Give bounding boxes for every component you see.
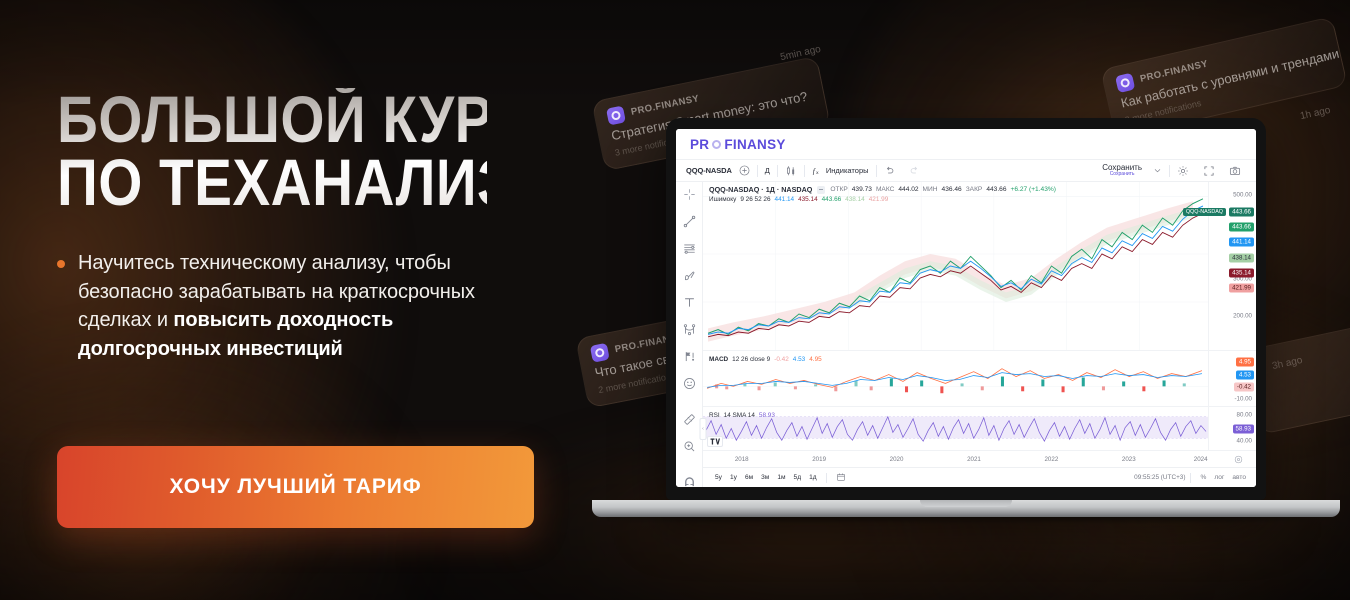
- date-range-button[interactable]: [832, 472, 850, 484]
- target-icon: [1234, 455, 1243, 464]
- profinansy-logo[interactable]: PR FINANSY: [690, 137, 786, 152]
- macd-axis[interactable]: 4.95 4.53 -0.42 -10.00: [1208, 351, 1256, 406]
- save-dropdown-button[interactable]: [1146, 160, 1169, 181]
- range-button-1y[interactable]: 1у: [726, 474, 741, 481]
- chevron-down-icon: [1153, 166, 1162, 175]
- range-button-1d[interactable]: 1д: [805, 474, 821, 481]
- price-pane[interactable]: QQQ-NASDAQ · 1Д · NASDAQ ОТКР439.73 МАКС…: [703, 182, 1256, 351]
- gear-icon: [1177, 165, 1189, 177]
- tradingview-logo-icon: [710, 438, 721, 445]
- save-sublabel: Сохранить: [1110, 172, 1135, 177]
- rsi-tick: 40.00: [1237, 437, 1252, 444]
- camera-icon: [1229, 165, 1241, 177]
- text-tool-icon[interactable]: [683, 296, 696, 314]
- promo-content: БОЛЬШОЙ КУРС ПО ТЕХАНАЛИЗУ Научитесь тех…: [57, 88, 557, 363]
- macd-tag-hist: -0.42: [1234, 383, 1254, 392]
- interval-button[interactable]: Д: [758, 160, 777, 181]
- cta-button[interactable]: ХОЧУ ЛУЧШИЙ ТАРИФ: [57, 446, 534, 528]
- range-button-5d[interactable]: 5д: [790, 474, 806, 481]
- app-brand-bar: PR FINANSY: [676, 129, 1256, 159]
- settings-button[interactable]: [1170, 160, 1196, 181]
- range-button-1m[interactable]: 1м: [773, 474, 789, 481]
- undo-button[interactable]: [877, 160, 902, 181]
- macd-tag-macd: 4.95: [1236, 358, 1254, 367]
- bullet-dot-icon: [57, 260, 65, 268]
- drawing-tools-sidebar: [676, 182, 703, 487]
- rsi-tag-value: 58.93: [1233, 424, 1254, 433]
- macd-line: [707, 369, 1202, 389]
- time-tick: 2024: [1194, 456, 1208, 463]
- price-tag-tenkan: 441.14: [1229, 238, 1254, 247]
- price-tag-senkou-a: 421.99: [1229, 283, 1254, 292]
- time-tick: 2022: [1044, 456, 1058, 463]
- macd-series-svg: [703, 351, 1208, 406]
- save-button[interactable]: Сохранить Сохранить: [1098, 164, 1146, 178]
- benefit-text: Научитесь техническому анализу, чтобы бе…: [78, 249, 527, 363]
- price-tick: 500.00: [1233, 192, 1252, 199]
- price-tick: 200.00: [1233, 313, 1252, 320]
- indicators-label: Индикаторы: [826, 166, 869, 175]
- headline-line-2: ПО ТЕХАНАЛИЗУ: [57, 151, 487, 214]
- undo-icon: [884, 165, 895, 176]
- promo-banner: PRO.FINANSY Стратегия Smart money: это ч…: [0, 0, 1350, 600]
- calendar-icon: [836, 472, 846, 482]
- percent-scale-button[interactable]: %: [1196, 474, 1210, 481]
- clock-label: 09:55:25 (UTC+3): [1134, 474, 1185, 481]
- add-symbol-button[interactable]: [732, 160, 757, 181]
- chart-type-button[interactable]: [778, 160, 804, 181]
- logo-text-pre: PR: [690, 137, 709, 152]
- chart-area: QQQ-NASDAQ · 1Д · NASDAQ ОТКР439.73 МАКС…: [703, 182, 1256, 487]
- symbol-button[interactable]: QQQ-NASDA: [686, 166, 732, 175]
- rsi-plot: [703, 407, 1208, 450]
- app-badge-icon: [1115, 73, 1135, 93]
- laptop-base: [592, 500, 1340, 517]
- time-tick: 2021: [967, 456, 981, 463]
- logo-text-post: FINANSY: [724, 137, 785, 152]
- price-axis[interactable]: 500.00 300.00 200.00 QQQ-NASDAQ 443.66 4…: [1208, 182, 1256, 350]
- price-tag-chikou: 443.66: [1229, 223, 1254, 232]
- trend-line-tool-icon[interactable]: [683, 215, 696, 233]
- laptop-screen: PR FINANSY QQQ-NASDA Д: [676, 129, 1256, 487]
- macd-plot: [703, 351, 1208, 406]
- time-tick: 2023: [1122, 456, 1136, 463]
- symbol-price-chip: QQQ-NASDAQ: [1183, 208, 1226, 216]
- rsi-pane[interactable]: RSI 14 SMA 14 58.93: [703, 407, 1256, 451]
- logo-ring-icon: [712, 140, 721, 149]
- plus-circle-icon: [739, 165, 750, 176]
- time-settings-button[interactable]: [1234, 455, 1243, 466]
- macd-signal-line: [707, 373, 1202, 388]
- emoji-tool-icon[interactable]: [683, 377, 696, 395]
- svg-text:x: x: [816, 171, 819, 176]
- footer-divider: [1190, 473, 1191, 483]
- price-tag-kijun: 435.14: [1229, 268, 1254, 277]
- price-series-svg: [703, 182, 1208, 350]
- magnet-tool-icon[interactable]: [683, 476, 696, 487]
- chart-toolbar: QQQ-NASDA Д: [676, 159, 1256, 182]
- benefit-bullet: Научитесь техническому анализу, чтобы бе…: [57, 249, 527, 363]
- laptop-base-shadow: [606, 517, 1326, 524]
- macd-tick: -10.00: [1234, 396, 1252, 403]
- fib-retracement-tool-icon[interactable]: [683, 242, 696, 260]
- pattern-tool-icon[interactable]: [683, 323, 696, 341]
- macd-histogram: [715, 377, 1186, 394]
- range-button-6m[interactable]: 6м: [741, 474, 757, 481]
- price-plot: [703, 182, 1208, 350]
- footer-divider: [826, 473, 827, 483]
- rsi-tick: 80.00: [1237, 411, 1252, 418]
- app-body: QQQ-NASDAQ · 1Д · NASDAQ ОТКР439.73 МАКС…: [676, 182, 1256, 487]
- page-title: БОЛЬШОЙ КУРС ПО ТЕХАНАЛИЗУ: [57, 88, 487, 213]
- time-axis[interactable]: 2018 2019 2020 2021 2022 2023 2024: [703, 451, 1256, 468]
- price-tag-current: 443.66: [1229, 208, 1254, 217]
- fx-icon: fx: [812, 165, 823, 176]
- laptop-lid: PR FINANSY QQQ-NASDA Д: [666, 118, 1266, 500]
- zoom-tool-icon[interactable]: [683, 440, 696, 458]
- chart-footer-bar: 5у 1у 6м 3м 1м 5д 1д 09:5: [703, 468, 1256, 487]
- crosshair-tool-icon[interactable]: [683, 188, 696, 206]
- price-tag-senkou-b: 438.14: [1229, 253, 1254, 262]
- macd-tag-signal: 4.53: [1236, 371, 1254, 380]
- measure-tool-icon[interactable]: [683, 413, 696, 431]
- indicators-button[interactable]: fx Индикаторы: [805, 160, 876, 181]
- time-tick: 2018: [735, 456, 749, 463]
- screenshot-button[interactable]: [1222, 160, 1248, 181]
- auto-scale-button[interactable]: авто: [1228, 474, 1250, 481]
- fullscreen-icon: [1203, 165, 1215, 177]
- rsi-axis[interactable]: 80.00 58.93 40.00: [1208, 407, 1256, 450]
- brush-tool-icon[interactable]: [683, 269, 696, 287]
- macd-pane[interactable]: MACD 12 26 close 9 -0.42 4.53 4.95: [703, 351, 1256, 407]
- rsi-series-svg: [703, 407, 1208, 450]
- redo-button[interactable]: [902, 160, 927, 181]
- time-tick: 2019: [812, 456, 826, 463]
- candlestick-icon: [785, 165, 797, 177]
- laptop-mockup: PR FINANSY QQQ-NASDA Д: [592, 118, 1340, 524]
- fullscreen-button[interactable]: [1196, 160, 1222, 181]
- log-scale-button[interactable]: лог: [1210, 474, 1228, 481]
- range-button-3m[interactable]: 3м: [757, 474, 773, 481]
- range-button-5y[interactable]: 5у: [711, 474, 726, 481]
- svg-text:f: f: [813, 166, 816, 175]
- flag-tool-icon[interactable]: [683, 350, 696, 368]
- pane-collapse-handle[interactable]: ‹: [700, 418, 707, 440]
- tradingview-badge[interactable]: [707, 436, 723, 447]
- time-tick: 2020: [890, 456, 904, 463]
- redo-icon: [909, 165, 920, 176]
